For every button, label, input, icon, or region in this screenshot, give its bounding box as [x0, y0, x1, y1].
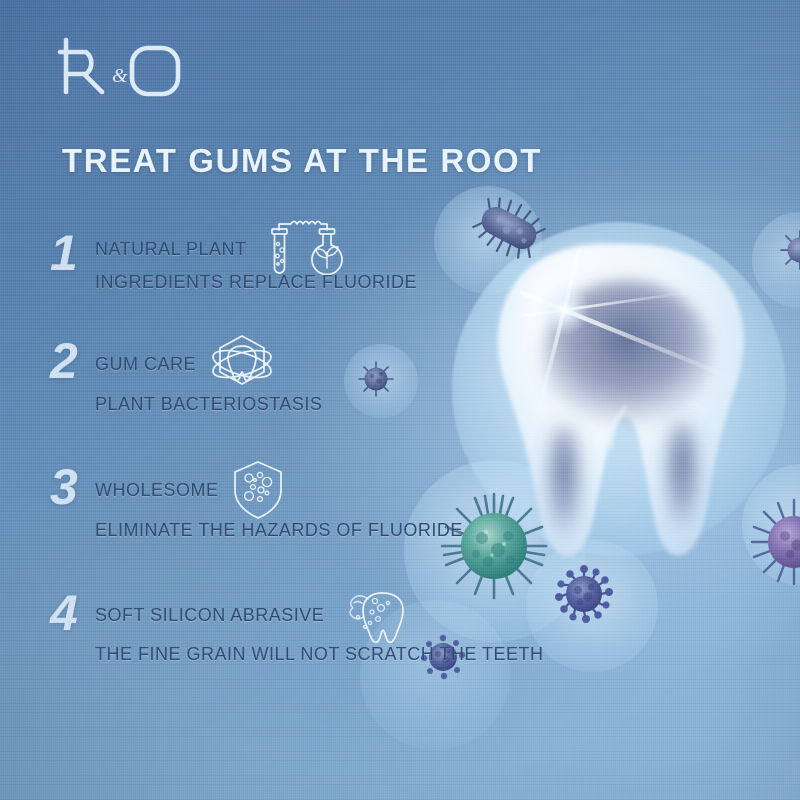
feature-subtitle: PLANT BACTERIOSTASIS	[95, 394, 520, 415]
shield-bubbles-icon	[229, 458, 287, 522]
ro-logo: &	[56, 36, 186, 98]
spiky-virus-purple-right	[746, 494, 800, 590]
feature-number: 1	[50, 228, 78, 278]
feature-item-3: 3 WHOLESOME	[50, 462, 520, 588]
svg-text:&: &	[112, 65, 128, 87]
feature-title: WHOLESOME	[95, 480, 219, 501]
halo-glow	[752, 212, 800, 308]
feature-title: SOFT SILICON ABRASIVE	[95, 605, 324, 626]
feature-item-1: 1 NATURAL PLANT	[50, 228, 520, 336]
feature-number: 2	[50, 336, 78, 386]
feature-item-2: 2 GUM CARE	[50, 336, 520, 462]
feature-title: NATURAL PLANT	[95, 239, 247, 260]
tooth-hexagon-orbit-icon	[206, 331, 278, 397]
feature-item-4: 4 SOFT SILICON ABRASIVE	[50, 588, 520, 708]
feature-subtitle: INGREDIENTS REPLACE FLUORIDE	[95, 272, 520, 293]
page-title: TREAT GUMS AT THE ROOT	[62, 142, 542, 180]
halo-glow	[526, 540, 658, 672]
lens-flare-sparkle	[520, 248, 740, 408]
feature-list: 1 NATURAL PLANT	[50, 228, 520, 708]
halo-glow	[742, 464, 800, 586]
feature-number: 4	[50, 588, 78, 638]
tooth-foam-icon	[334, 583, 414, 647]
feature-subtitle: ELIMINATE THE HAZARDS OF FLUORIDE	[95, 520, 520, 541]
test-tube-flask-leaf-icon	[257, 218, 343, 280]
feature-subtitle: THE FINE GRAIN WILL NOT SCRATCH THE TEET…	[95, 644, 520, 665]
poster-canvas: & TREAT GUMS AT THE ROOT 1 NATURAL PLANT	[0, 0, 800, 800]
small-virus-right-edge	[778, 228, 800, 272]
feature-title: GUM CARE	[95, 354, 196, 375]
corona-virus-indigo	[548, 558, 620, 630]
feature-number: 3	[50, 462, 78, 512]
